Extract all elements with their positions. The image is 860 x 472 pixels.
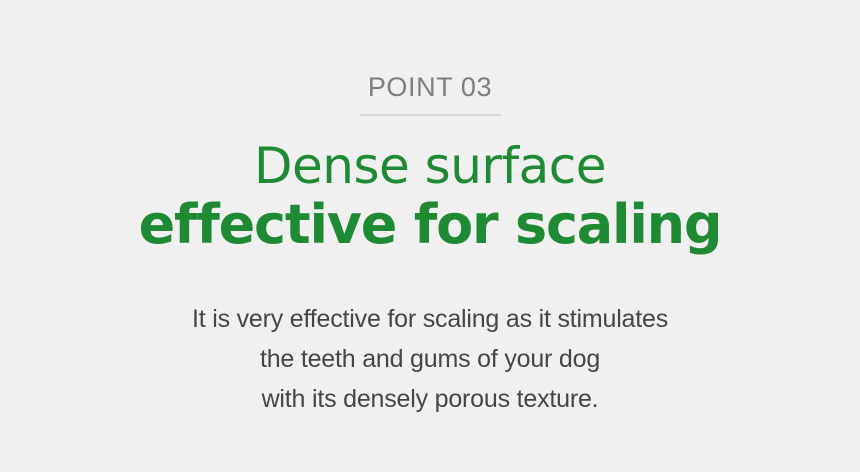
body-line-2: the teeth and gums of your dog xyxy=(192,339,668,379)
headline-line-1: Dense surface xyxy=(254,140,606,193)
headline-line-2: effective for scaling xyxy=(139,195,722,255)
eyebrow-divider xyxy=(360,114,501,116)
body-line-3: with its densely porous texture. xyxy=(192,379,668,419)
promo-slide: POINT 03 Dense surface effective for sca… xyxy=(0,0,860,472)
body-line-1: It is very effective for scaling as it s… xyxy=(192,299,668,339)
body-copy: It is very effective for scaling as it s… xyxy=(192,299,668,419)
headline: Dense surface effective for scaling xyxy=(139,140,722,255)
point-label: POINT 03 xyxy=(368,74,492,101)
eyebrow-block: POINT 03 xyxy=(360,74,501,116)
